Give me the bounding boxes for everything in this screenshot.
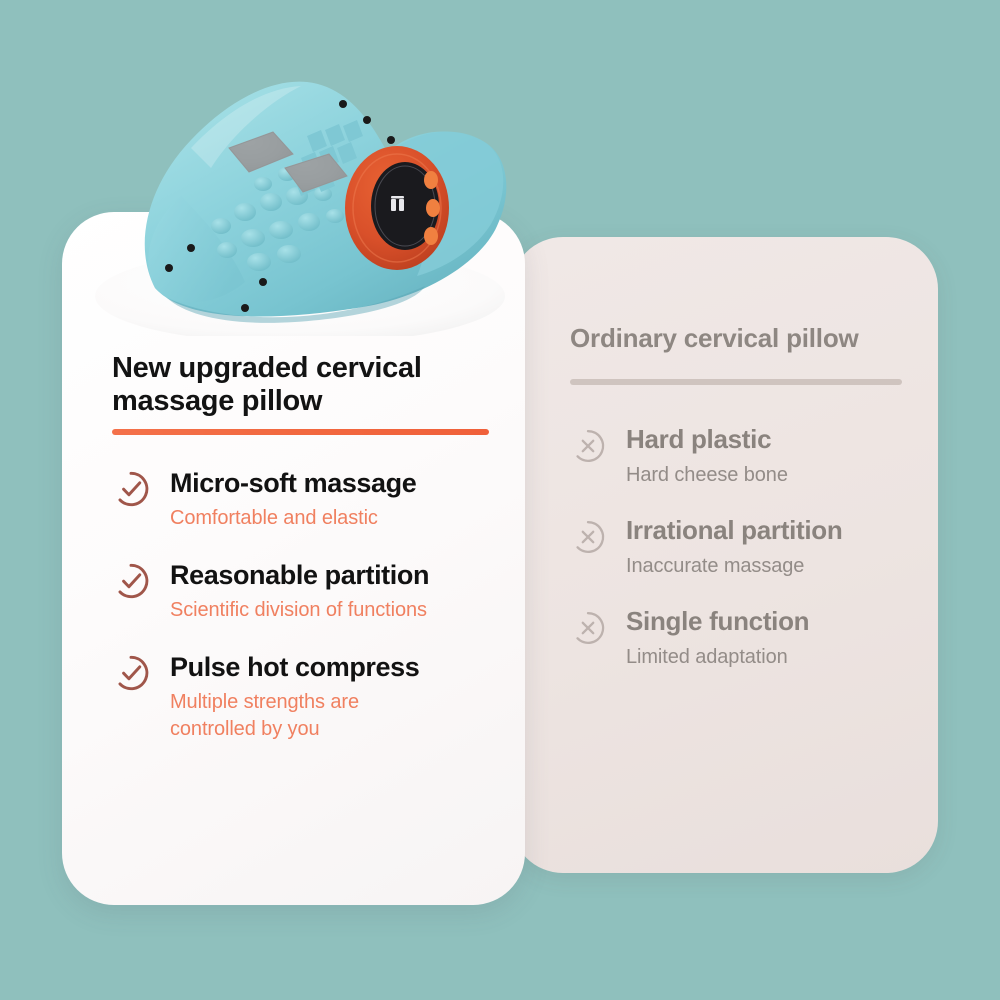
upgraded-feature-list: Micro-soft massage Comfortable and elast… [112, 468, 512, 742]
feature-title: Reasonable partition [170, 560, 429, 590]
feature-title: Micro-soft massage [170, 468, 416, 498]
cross-circle-icon [570, 428, 606, 464]
drawback-title: Single function [626, 607, 809, 636]
drawback-subtitle: Limited adaptation [626, 644, 809, 670]
comparison-infographic: New upgraded cervical massage pillow Mic… [0, 0, 1000, 1000]
ordinary-card-title: Ordinary cervical pillow [570, 323, 930, 353]
upgraded-card-title: New upgraded cervical massage pillow [112, 352, 512, 418]
check-circle-icon [112, 470, 150, 508]
drawback-item: Hard plastic Hard cheese bone [570, 425, 930, 488]
cross-circle-icon [570, 519, 606, 555]
feature-item: Micro-soft massage Comfortable and elast… [112, 468, 512, 532]
title-underline-accent [112, 429, 489, 435]
drawback-item: Single function Limited adaptation [570, 607, 930, 670]
ordinary-drawback-list: Hard plastic Hard cheese bone Irrational… [570, 425, 930, 670]
drawback-subtitle: Inaccurate massage [626, 553, 842, 579]
drawback-title: Hard plastic [626, 425, 788, 454]
drawback-title: Irrational partition [626, 516, 842, 545]
drawback-subtitle: Hard cheese bone [626, 462, 788, 488]
feature-item: Reasonable partition Scientific division… [112, 560, 512, 624]
cross-circle-icon [570, 610, 606, 646]
upgraded-card-content: New upgraded cervical massage pillow Mic… [112, 352, 512, 742]
feature-subtitle: Comfortable and elastic [170, 505, 416, 532]
check-circle-icon [112, 562, 150, 600]
check-circle-icon [112, 654, 150, 692]
feature-subtitle: Scientific division of functions [170, 597, 429, 624]
feature-title: Pulse hot compress [170, 652, 419, 682]
drawback-item: Irrational partition Inaccurate massage [570, 516, 930, 579]
ordinary-card-content: Ordinary cervical pillow Hard plastic Ha… [570, 323, 930, 670]
feature-item: Pulse hot compress Multiple strengths ar… [112, 652, 512, 742]
ordinary-title-divider [570, 379, 902, 385]
feature-subtitle: Multiple strengths are controlled by you [170, 689, 419, 742]
